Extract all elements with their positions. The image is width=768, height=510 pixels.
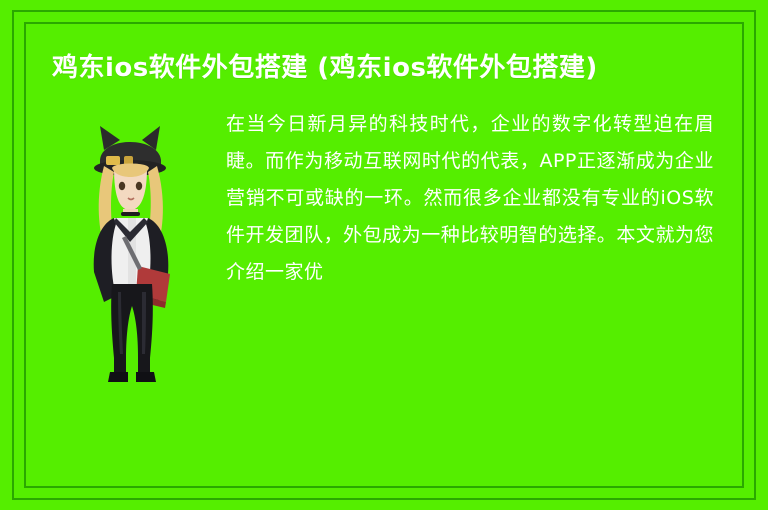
page-title: 鸡东ios软件外包搭建 (鸡东ios软件外包搭建) — [52, 50, 712, 88]
article-paragraph: 在当今日新月异的科技时代，企业的数字化转型迫在眉睫。而作为移动互联网时代的代表，… — [226, 106, 716, 291]
body-row: 在当今日新月异的科技时代，企业的数字化转型迫在眉睫。而作为移动互联网时代的代表，… — [52, 106, 716, 396]
content-area: 鸡东ios软件外包搭建 (鸡东ios软件外包搭建) — [24, 22, 744, 488]
page-root: 鸡东ios软件外包搭建 (鸡东ios软件外包搭建) — [0, 0, 768, 510]
anime-girl-with-cat-ear-hat-illustration — [62, 106, 202, 396]
